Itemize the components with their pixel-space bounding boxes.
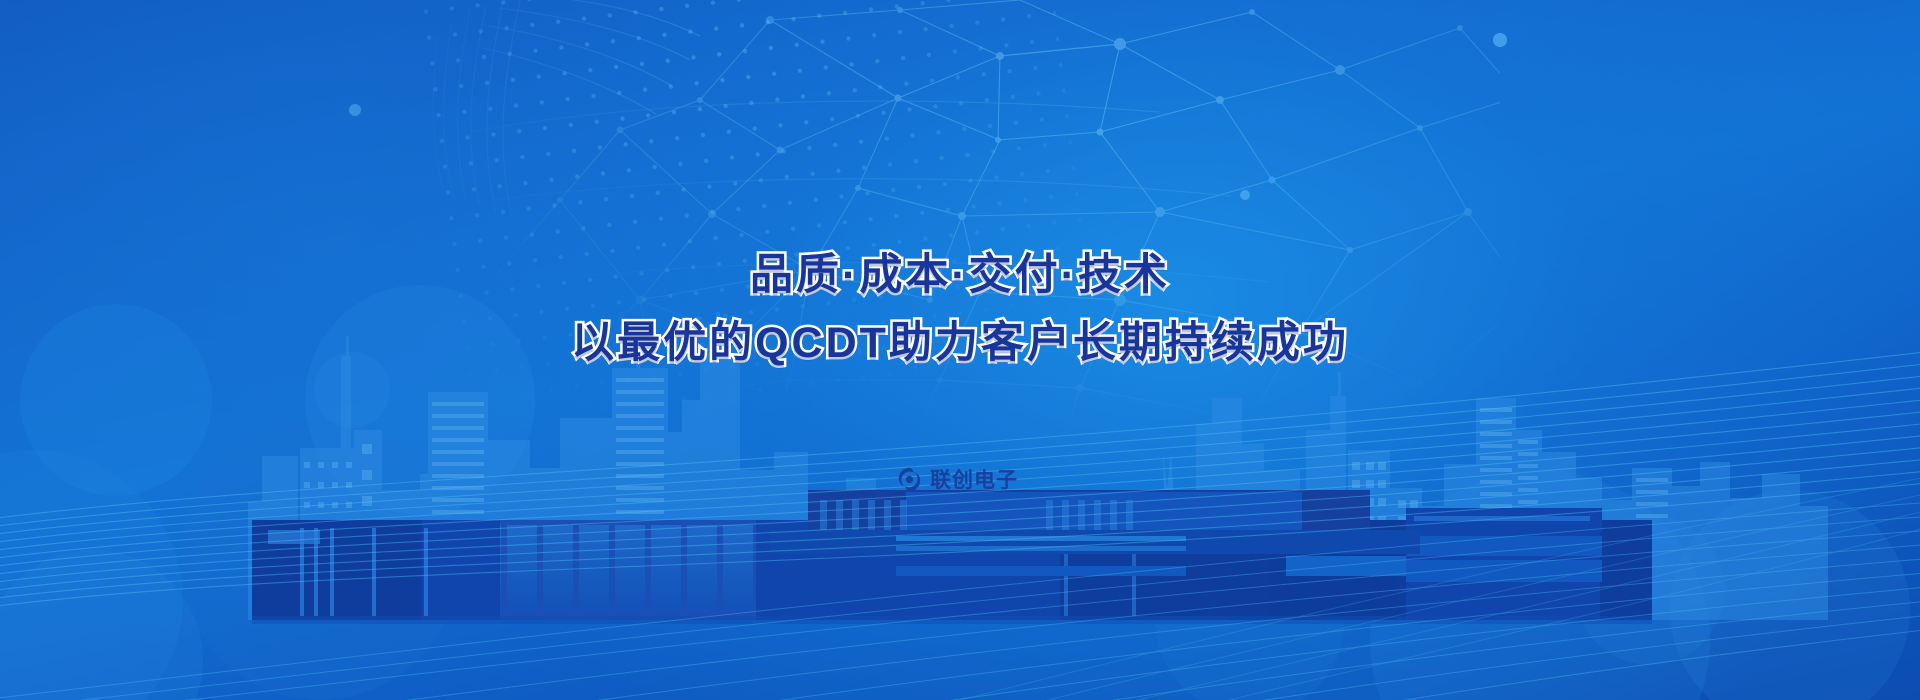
central-gate-building	[770, 490, 1420, 620]
spire-tower-landmark	[1128, 452, 1210, 566]
headline-block: 品质·成本·交付·技术 以最优的QCDT助力客户长期持续成功	[0, 248, 1920, 371]
promo-banner: 品质·成本·交付·技术 以最优的QCDT助力客户长期持续成功 联创电子	[0, 0, 1920, 700]
brand-logo: 联创电子	[896, 464, 1018, 494]
brand-logo-text: 联创电子	[930, 464, 1018, 494]
headline-line-2: 以最优的QCDT助力客户长期持续成功	[0, 316, 1920, 371]
headline-line-1: 品质·成本·交付·技术	[0, 248, 1920, 303]
foreground-base-bar	[252, 520, 1652, 620]
swirl-spiral-logo-icon	[896, 466, 923, 493]
right-tiered-block	[1286, 508, 1602, 582]
